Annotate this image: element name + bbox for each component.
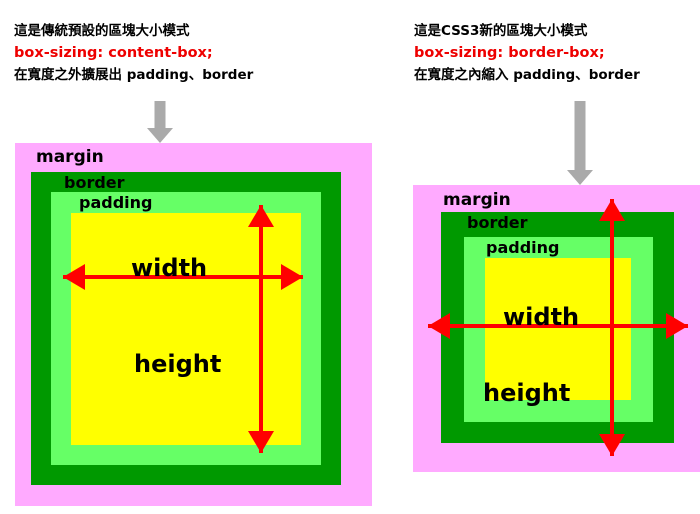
right-caption-line-1: 這是CSS3新的區塊大小模式 <box>414 20 640 42</box>
left-caption: 這是傳統預設的區塊大小模式 box-sizing: content-box; 在… <box>14 20 253 86</box>
border-label: border <box>64 175 125 191</box>
arrow-head-top <box>248 205 274 227</box>
height-label: height <box>134 352 221 376</box>
border-layer: border padding <box>31 172 341 485</box>
arrow-head-left <box>63 264 85 290</box>
padding-layer: padding <box>51 192 321 465</box>
margin-label: margin <box>443 192 511 209</box>
arrow-head-bottom <box>248 431 274 453</box>
arrow-head-left <box>428 313 450 339</box>
height-measure-arrow <box>599 199 625 456</box>
arrow-head <box>147 128 173 143</box>
left-flow-arrow-icon <box>134 101 186 143</box>
arrow-shaft <box>155 101 166 129</box>
border-label: border <box>467 215 528 231</box>
right-box-model-diagram: margin border padding width height <box>413 185 700 472</box>
arrow-head-bottom <box>599 434 625 456</box>
left-caption-line-3: 在寬度之外擴展出 padding、border <box>14 64 253 86</box>
margin-label: margin <box>36 149 104 166</box>
padding-label: padding <box>79 195 152 211</box>
height-label: height <box>483 381 570 405</box>
left-caption-code: box-sizing: content-box; <box>14 42 253 64</box>
right-flow-arrow-icon <box>554 101 606 185</box>
padding-label: padding <box>486 240 559 256</box>
right-caption-line-3: 在寬度之內縮入 padding、border <box>414 64 640 86</box>
arrow-shaft <box>575 101 586 171</box>
arrow-head-top <box>599 199 625 221</box>
arrow-head <box>567 170 593 185</box>
arrow-head-right <box>666 313 688 339</box>
arrow-head-right <box>281 264 303 290</box>
height-measure-arrow <box>248 205 274 453</box>
right-caption: 這是CSS3新的區塊大小模式 box-sizing: border-box; 在… <box>414 20 640 86</box>
width-label: width <box>131 256 207 280</box>
arrow-shaft <box>610 199 614 456</box>
left-box-model-diagram: margin border padding width height <box>15 143 372 506</box>
left-caption-line-1: 這是傳統預設的區塊大小模式 <box>14 20 253 42</box>
arrow-shaft <box>259 205 263 453</box>
left-panel: 這是傳統預設的區塊大小模式 box-sizing: content-box; 在… <box>0 0 400 514</box>
right-panel: 這是CSS3新的區塊大小模式 box-sizing: border-box; 在… <box>400 0 700 514</box>
width-label: width <box>503 305 579 329</box>
right-caption-code: box-sizing: border-box; <box>414 42 640 64</box>
